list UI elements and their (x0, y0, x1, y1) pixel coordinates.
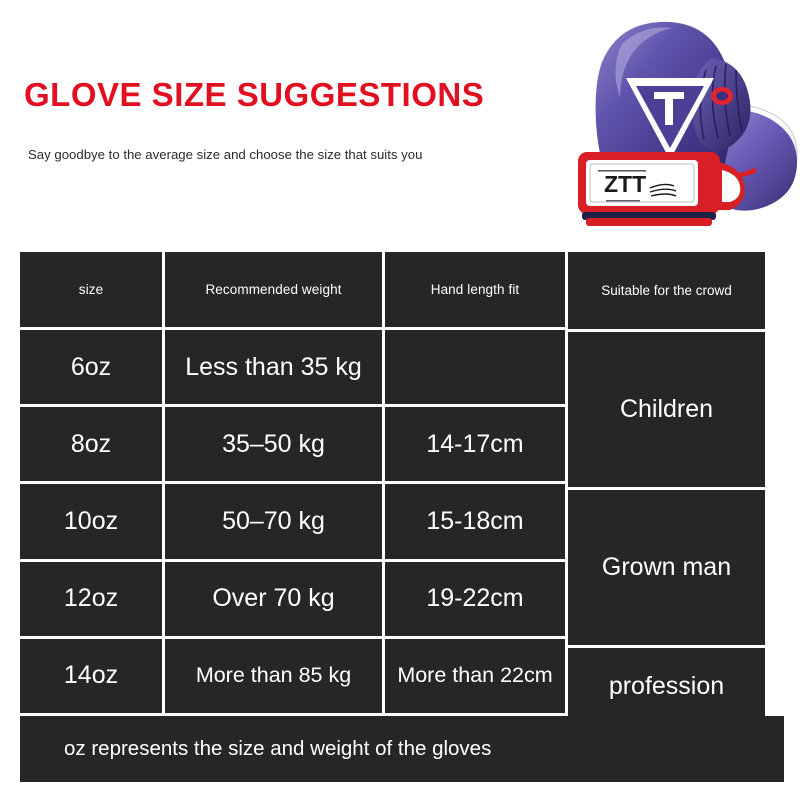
cell-weight: Over 70 kg (165, 562, 382, 636)
column-header-size: size (20, 252, 162, 327)
column-header-weight: Recommended weight (165, 252, 382, 327)
cell-size: 14oz (20, 639, 162, 713)
table-footer-note: oz represents the size and weight of the… (20, 716, 784, 782)
cell-crowd-profession: profession (568, 648, 765, 724)
cell-weight: 50–70 kg (165, 484, 382, 558)
cell-crowd-children: Children (568, 332, 765, 487)
boxing-gloves-image: ZTT (530, 0, 800, 238)
table-row: 12oz Over 70 kg 19-22cm (20, 562, 565, 636)
table-header-row: size Recommended weight Hand length fit (20, 252, 565, 327)
cell-hand: 19-22cm (385, 562, 565, 636)
table-row: 14oz More than 85 kg More than 22cm (20, 639, 565, 713)
table-body: size Recommended weight Hand length fit … (20, 252, 784, 713)
column-header-hand: Hand length fit (385, 252, 565, 327)
cell-size: 8oz (20, 407, 162, 481)
cell-hand: 15-18cm (385, 484, 565, 558)
cell-size: 10oz (20, 484, 162, 558)
page-title: GLOVE SIZE SUGGESTIONS (24, 78, 484, 111)
glove-brand-text: ZTT (604, 171, 646, 197)
page-subtitle: Say goodbye to the average size and choo… (28, 148, 422, 161)
cell-crowd-grown-man: Grown man (568, 490, 765, 645)
glove-primary: ZTT (578, 22, 750, 226)
cell-weight: 35–50 kg (165, 407, 382, 481)
table-row: 10oz 50–70 kg 15-18cm (20, 484, 565, 558)
size-table: size Recommended weight Hand length fit … (20, 252, 784, 782)
table-left-columns: size Recommended weight Hand length fit … (20, 252, 565, 713)
cell-weight: More than 85 kg (165, 639, 382, 713)
table-crowd-column: Suitable for the crowd Children Grown ma… (568, 252, 765, 713)
column-header-crowd: Suitable for the crowd (568, 252, 765, 329)
table-row: 8oz 35–50 kg 14-17cm (20, 407, 565, 481)
table-row: 6oz Less than 35 kg (20, 330, 565, 404)
cell-hand: More than 22cm (385, 639, 565, 713)
cell-size: 6oz (20, 330, 162, 404)
cell-size: 12oz (20, 562, 162, 636)
cell-weight: Less than 35 kg (165, 330, 382, 404)
cell-hand: 14-17cm (385, 407, 565, 481)
cell-hand (385, 330, 565, 404)
